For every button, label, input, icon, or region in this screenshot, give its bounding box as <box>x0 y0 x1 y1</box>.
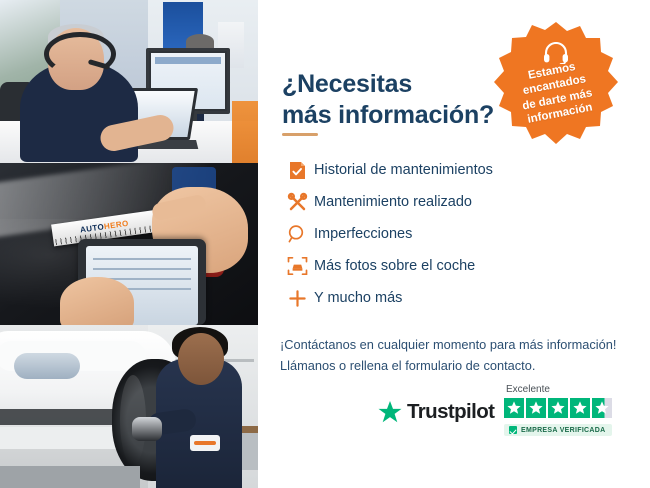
trustpilot-logo: Trustpilot <box>378 400 494 424</box>
content-panel: ¿Necesitas más información? Estamos enca… <box>258 0 650 488</box>
feature-label: Mantenimiento realizado <box>314 194 472 210</box>
inspection-ruler-photo: AUTOHERO <box>0 163 258 325</box>
mechanic-head <box>178 333 224 385</box>
trustpilot-stars <box>504 398 612 418</box>
contact-paragraph-line-two: Llámanos o rellena el formulario de cont… <box>280 358 535 373</box>
support-badge: Estamos encantados de darte más informac… <box>494 20 618 144</box>
mechanic-wheel-photo <box>0 325 258 488</box>
information-banner: AUTOHERO <box>0 0 650 488</box>
feature-item-much-more: Y mucho más <box>280 282 600 314</box>
agent-background-two-hair <box>186 34 214 49</box>
trustpilot-widget[interactable]: Trustpilot Excelente <box>378 386 628 448</box>
verified-company-badge: EMPRESA VERIFICADA <box>504 424 612 436</box>
page-title-line-one: ¿Necesitas <box>282 70 412 98</box>
call-center-agents-photo <box>0 0 258 163</box>
feature-label: Más fotos sobre el coche <box>314 258 475 274</box>
star-box-4 <box>570 398 590 418</box>
feature-list: Historial de mantenimientos Mantenimient… <box>280 154 600 314</box>
photo-strip: AUTOHERO <box>0 0 258 488</box>
star-box-3 <box>548 398 568 418</box>
feature-label: Y mucho más <box>314 290 402 306</box>
mechanic-glove <box>132 417 162 441</box>
clipboard-check-icon <box>280 157 314 183</box>
page-title-line-two: más información? <box>282 101 494 129</box>
trustpilot-rating-label: Excelente <box>506 384 550 395</box>
star-box-5-partial <box>592 398 612 418</box>
inspector-hand-two <box>60 277 134 325</box>
feature-label: Imperfecciones <box>314 226 412 242</box>
magnifier-icon <box>280 221 314 247</box>
star-box-1 <box>504 398 524 418</box>
trustpilot-name: Trustpilot <box>407 400 494 424</box>
mechanic-badge <box>190 435 220 451</box>
car-lift-ramp <box>0 466 140 488</box>
feature-item-more-photos: Más fotos sobre el coche <box>280 250 600 282</box>
plus-icon <box>280 285 314 311</box>
star-box-2 <box>526 398 546 418</box>
contact-paragraph: ¡Contáctanos en cualquier momento para m… <box>280 335 630 376</box>
orange-cone <box>232 101 258 163</box>
contact-paragraph-line-one: ¡Contáctanos en cualquier momento para m… <box>280 337 616 352</box>
car-headlight <box>14 353 80 379</box>
agent-headset-icon <box>44 32 116 76</box>
trustpilot-star-icon <box>378 401 402 424</box>
verified-company-label: EMPRESA VERIFICADA <box>521 427 605 434</box>
feature-item-maintenance-history: Historial de mantenimientos <box>280 154 600 186</box>
feature-item-maintenance-done: Mantenimiento realizado <box>280 186 600 218</box>
title-divider <box>282 133 318 136</box>
verified-check-icon <box>509 426 517 434</box>
car-grille <box>0 409 116 425</box>
crossed-tools-icon <box>280 189 314 215</box>
car-frame-icon <box>280 253 314 279</box>
feature-label: Historial de mantenimientos <box>314 162 493 178</box>
feature-item-imperfections: Imperfecciones <box>280 218 600 250</box>
car-bumper <box>0 427 126 449</box>
